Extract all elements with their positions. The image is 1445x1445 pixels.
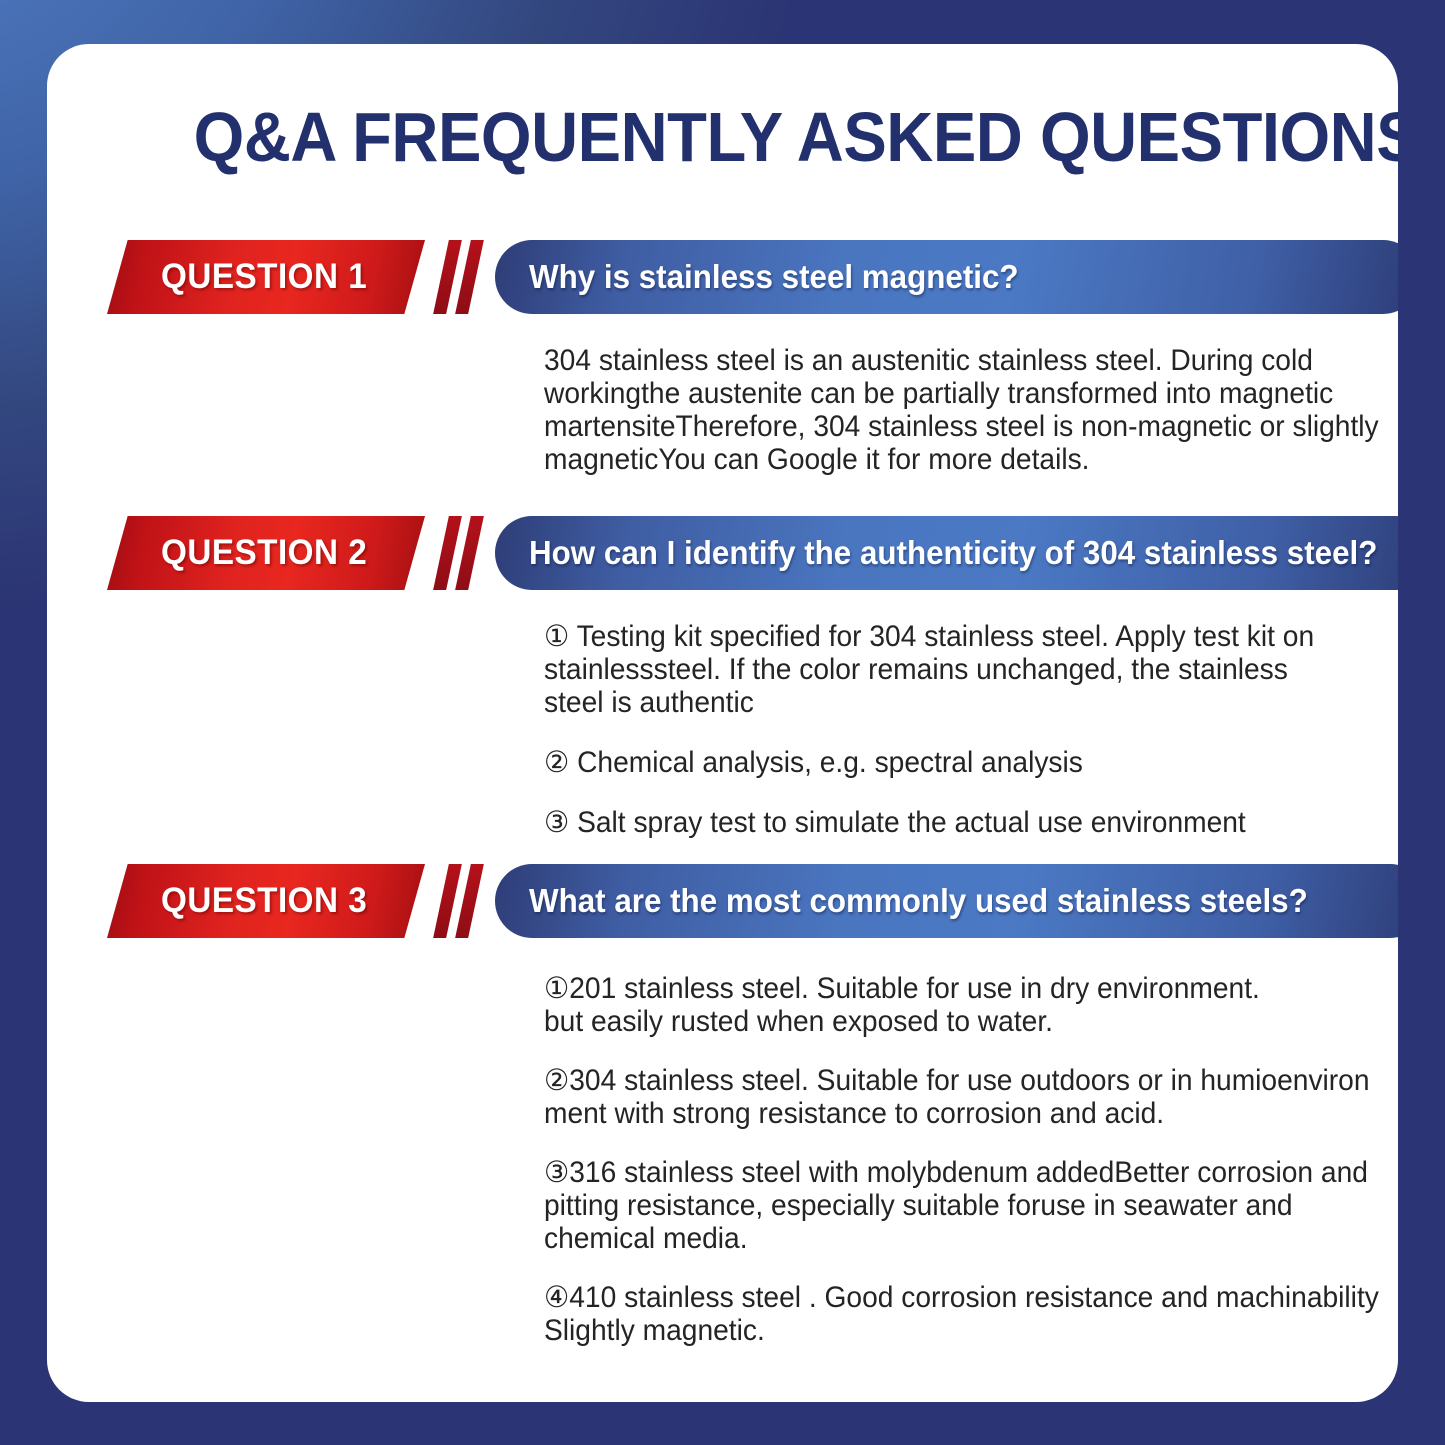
question-tag-2[interactable]: QUESTION 2	[107, 516, 425, 590]
answer-paragraph: ①201 stainless steel. Suitable for use i…	[544, 972, 1394, 1038]
question-text-2: How can I identify the authenticity of 3…	[529, 534, 1377, 572]
question-tag-3[interactable]: QUESTION 3	[107, 864, 425, 938]
question-tag-label-1: QUESTION 1	[115, 240, 417, 314]
answer-body-1: 304 stainless steel is an austenitic sta…	[544, 344, 1382, 476]
faq-header-2: QUESTION 2 How can I identify the authen…	[47, 516, 1398, 594]
faq-item-2: QUESTION 2 How can I identify the authen…	[47, 516, 1398, 594]
question-text-3: What are the most commonly used stainles…	[529, 882, 1308, 920]
question-banner-3[interactable]: What are the most commonly used stainles…	[495, 864, 1398, 938]
answer-paragraph: ③316 stainless steel with molybdenum add…	[544, 1156, 1394, 1255]
question-banner-1[interactable]: Why is stainless steel magnetic?	[495, 240, 1398, 314]
faq-page: Q&A FREQUENTLY ASKED QUESTIONS QUESTION …	[0, 0, 1445, 1445]
answer-paragraph: 304 stainless steel is an austenitic sta…	[544, 344, 1382, 476]
faq-header-1: QUESTION 1 Why is stainless steel magnet…	[47, 240, 1398, 318]
answer-paragraph: ② Chemical analysis, e.g. spectral analy…	[544, 746, 1327, 779]
faq-header-3: QUESTION 3 What are the most commonly us…	[47, 864, 1398, 942]
answer-paragraph: ① Testing kit specified for 304 stainles…	[544, 620, 1327, 719]
faq-item-1: QUESTION 1 Why is stainless steel magnet…	[47, 240, 1398, 318]
faq-card: Q&A FREQUENTLY ASKED QUESTIONS QUESTION …	[47, 44, 1398, 1402]
page-title: Q&A FREQUENTLY ASKED QUESTIONS	[194, 102, 1301, 172]
answer-body-2: ① Testing kit specified for 304 stainles…	[544, 620, 1327, 839]
answer-paragraph: ④410 stainless steel . Good corrosion re…	[544, 1281, 1394, 1347]
answer-body-3: ①201 stainless steel. Suitable for use i…	[544, 972, 1394, 1347]
question-text-1: Why is stainless steel magnetic?	[529, 258, 1019, 296]
answer-paragraph: ③ Salt spray test to simulate the actual…	[544, 806, 1327, 839]
question-tag-label-2: QUESTION 2	[115, 516, 417, 590]
question-tag-1[interactable]: QUESTION 1	[107, 240, 425, 314]
faq-item-3: QUESTION 3 What are the most commonly us…	[47, 864, 1398, 942]
question-banner-2[interactable]: How can I identify the authenticity of 3…	[495, 516, 1398, 590]
answer-paragraph: ②304 stainless steel. Suitable for use o…	[544, 1064, 1394, 1130]
question-tag-label-3: QUESTION 3	[115, 864, 417, 938]
